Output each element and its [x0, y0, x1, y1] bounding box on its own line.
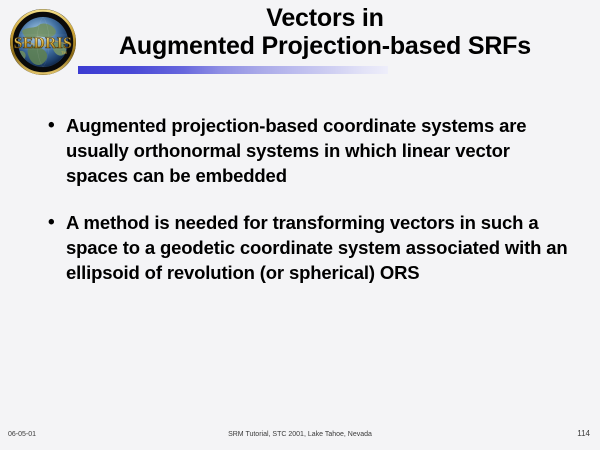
footer-page-number: 114	[577, 429, 590, 439]
title-line-1: Vectors in	[60, 4, 590, 32]
footer-event-text: SRM Tutorial, STC 2001, Lake Tahoe, Neva…	[0, 430, 600, 440]
slide-footer: 06-05-01 SRM Tutorial, STC 2001, Lake Ta…	[0, 428, 600, 442]
bullet-item: • Augmented projection-based coordinate …	[48, 113, 568, 188]
slide-body: • Augmented projection-based coordinate …	[48, 113, 568, 307]
title-line-2: Augmented Projection-based SRFs	[60, 32, 590, 60]
presentation-slide: SEDRIS TM Vectors in Augmented Projectio…	[0, 0, 600, 450]
bullet-item: • A method is needed for transforming ve…	[48, 210, 568, 285]
slide-title: Vectors in Augmented Projection-based SR…	[60, 4, 590, 60]
bullet-marker-icon: •	[48, 210, 66, 235]
title-underline-rule	[78, 66, 388, 74]
bullet-marker-icon: •	[48, 113, 66, 138]
bullet-text: A method is needed for transforming vect…	[66, 210, 568, 285]
bullet-text: Augmented projection-based coordinate sy…	[66, 113, 568, 188]
